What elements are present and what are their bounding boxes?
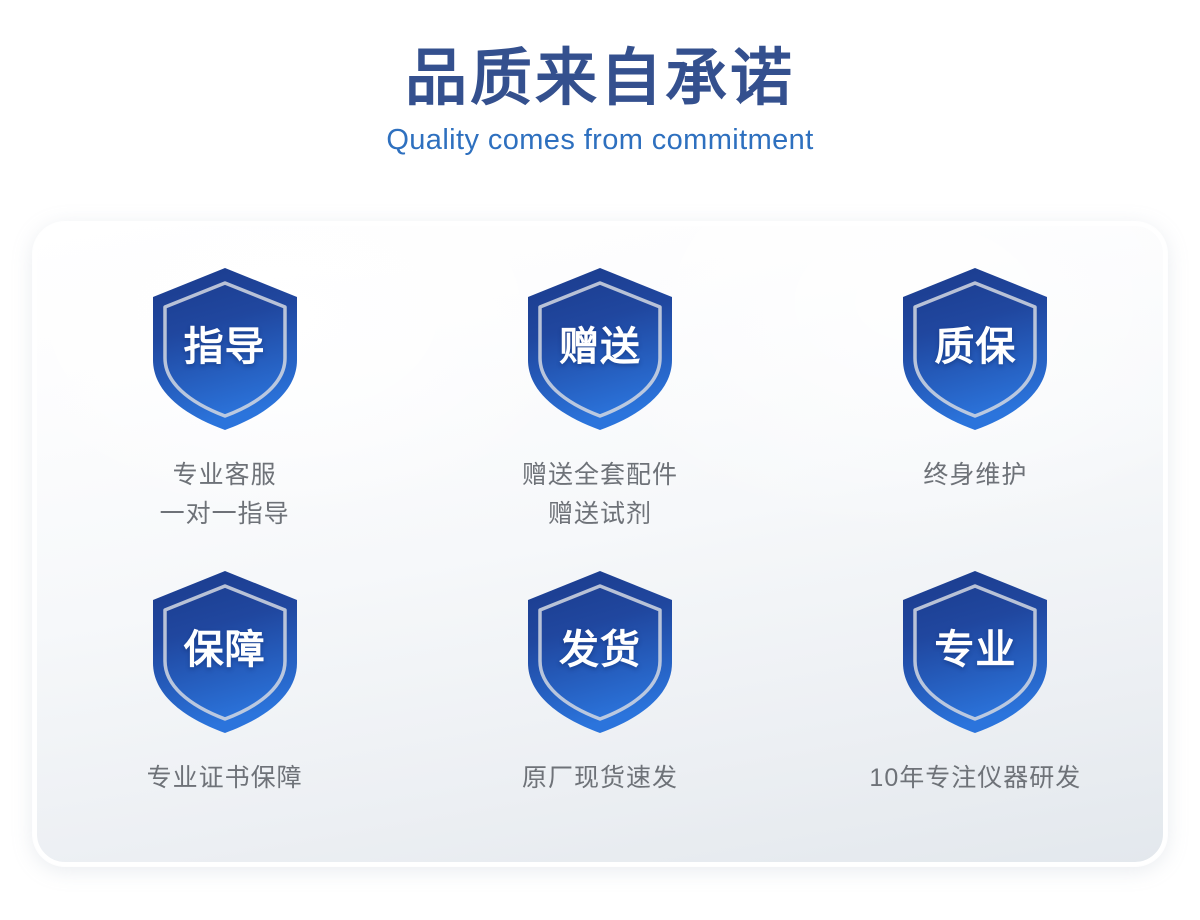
guarantee-caption-line: 专业客服	[160, 456, 290, 495]
shield-badge-label: 指导	[149, 327, 301, 367]
guarantee-item[interactable]: 赠送赠送全套配件赠送试剂	[412, 236, 787, 549]
shield-badge: 专业	[899, 567, 1051, 735]
guarantee-caption-line: 专业证书保障	[147, 759, 303, 798]
guarantee-item[interactable]: 发货原厂现货速发	[412, 549, 787, 862]
shield-badge: 指导	[149, 264, 301, 432]
guarantee-item[interactable]: 质保终身维护	[788, 236, 1163, 549]
guarantee-caption: 专业证书保障	[147, 759, 303, 798]
page-subtitle: Quality comes from commitment	[0, 125, 1200, 157]
shield-badge: 质保	[899, 264, 1051, 432]
page-header: 品质来自承诺 Quality comes from commitment	[0, 0, 1200, 157]
guarantee-caption-line: 赠送全套配件	[522, 456, 678, 495]
guarantee-caption-line: 终身维护	[923, 456, 1027, 495]
shield-badge-label: 发货	[524, 630, 676, 670]
shield-badge: 赠送	[524, 264, 676, 432]
guarantee-caption: 终身维护	[923, 456, 1027, 495]
guarantee-caption: 原厂现货速发	[522, 759, 678, 798]
guarantee-caption-line: 原厂现货速发	[522, 759, 678, 798]
guarantee-item[interactable]: 保障专业证书保障	[37, 549, 412, 862]
guarantee-caption: 专业客服一对一指导	[160, 456, 290, 534]
guarantee-caption: 赠送全套配件赠送试剂	[522, 456, 678, 534]
shield-badge-label: 保障	[149, 630, 301, 670]
guarantee-caption: 10年专注仪器研发	[869, 759, 1081, 798]
guarantee-caption-line: 10年专注仪器研发	[869, 759, 1081, 798]
guarantee-card: 指导专业客服一对一指导赠送赠送全套配件赠送试剂质保终身维护保障专业证书保障发货原…	[33, 222, 1167, 866]
shield-badge-label: 赠送	[524, 327, 676, 367]
shield-badge-label: 专业	[899, 630, 1051, 670]
guarantee-caption-line: 一对一指导	[160, 495, 290, 534]
guarantee-caption-line: 赠送试剂	[522, 495, 678, 534]
page-title: 品质来自承诺	[0, 46, 1200, 111]
shield-badge-label: 质保	[899, 327, 1051, 367]
guarantee-item[interactable]: 指导专业客服一对一指导	[37, 236, 412, 549]
shield-badge: 保障	[149, 567, 301, 735]
guarantee-item[interactable]: 专业10年专注仪器研发	[788, 549, 1163, 862]
guarantee-grid: 指导专业客服一对一指导赠送赠送全套配件赠送试剂质保终身维护保障专业证书保障发货原…	[37, 226, 1163, 862]
shield-badge: 发货	[524, 567, 676, 735]
